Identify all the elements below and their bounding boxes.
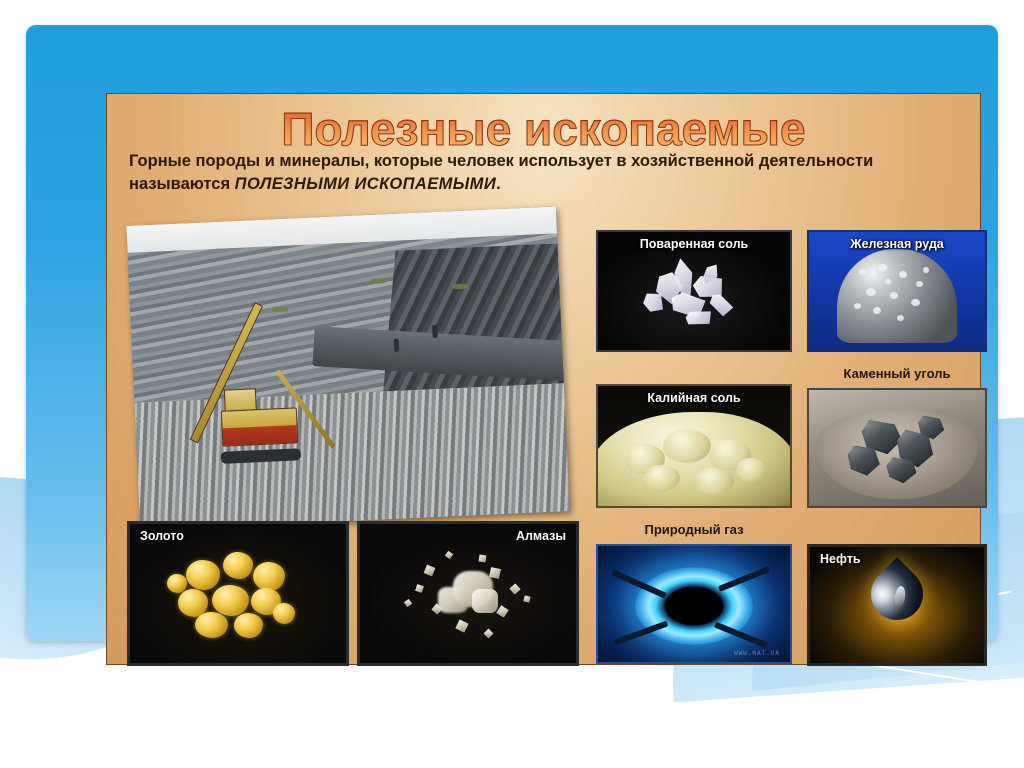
gas-image-watermark: WWW.MAT.UA — [734, 650, 780, 657]
quarry-worker-figure — [432, 325, 438, 338]
tile-potash-salt[interactable]: Калийная соль — [596, 384, 792, 508]
tile-coal[interactable] — [807, 388, 987, 508]
quarry-rubble-floor — [134, 383, 569, 530]
excavator-body — [221, 407, 299, 446]
coal-in-hands-image — [809, 390, 985, 506]
quarry-vegetation — [452, 284, 468, 290]
burner-center — [670, 591, 718, 621]
tile-diamonds[interactable]: Алмазы — [357, 521, 579, 666]
hands-holding-coal — [816, 411, 978, 499]
quarry-vegetation — [370, 278, 386, 284]
subtitle-text-part2: . — [496, 175, 501, 193]
gas-burner-flame-image: WWW.MAT.UA — [598, 546, 790, 662]
tile-oil[interactable]: Нефть — [807, 544, 987, 666]
iron-ore-rock — [837, 249, 957, 343]
slide-canvas: Полезные ископаемые Горные породы и мине… — [0, 0, 1024, 768]
page-title: Полезные ископаемые — [107, 102, 980, 156]
tile-label-iron-ore: Железная руда — [809, 237, 985, 251]
tile-natural-gas[interactable]: WWW.MAT.UA — [596, 544, 792, 664]
quarry-worker-figure — [394, 339, 400, 352]
excavator-cab — [224, 388, 257, 411]
gold-nugget-image — [130, 524, 346, 663]
tile-label-coal: Каменный уголь — [807, 366, 987, 381]
slide-frame: Полезные ископаемые Горные породы и мине… — [26, 25, 998, 641]
tile-label-diamonds: Алмазы — [516, 529, 566, 543]
diamonds-image — [360, 524, 576, 663]
tile-gold[interactable]: Золото — [127, 521, 349, 666]
quarry-photo — [126, 206, 569, 530]
tile-iron-ore[interactable]: Железная руда — [807, 230, 987, 352]
content-board: Полезные ископаемые Горные породы и мине… — [106, 93, 981, 665]
tile-label-gold: Золото — [140, 529, 184, 543]
tile-label-table-salt: Поваренная соль — [598, 237, 790, 251]
tile-label-potash-salt: Калийная соль — [598, 391, 790, 405]
subtitle-emphasis: ПОЛЕЗНЫМИ ИСКОПАЕМЫМИ — [235, 175, 496, 193]
tile-table-salt[interactable]: Поваренная соль — [596, 230, 792, 352]
tile-label-natural-gas: Природный газ — [596, 522, 792, 537]
page-subtitle: Горные породы и минералы, которые челове… — [129, 150, 960, 196]
tile-label-oil: Нефть — [820, 552, 861, 566]
